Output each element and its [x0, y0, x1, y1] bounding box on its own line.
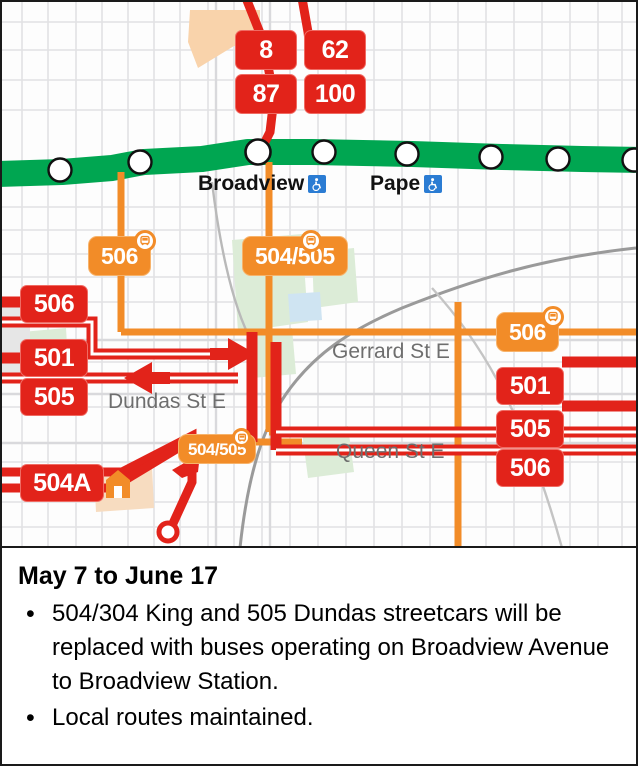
street-label-gerrard: Gerrard St E	[332, 340, 450, 364]
notice-title: May 7 to June 17	[18, 562, 620, 591]
route-badge-8[interactable]: 8	[235, 30, 297, 70]
route-badge-left-501[interactable]: 501	[20, 339, 88, 377]
station-marker-pape	[313, 141, 336, 164]
route-badge-right-506[interactable]: 506	[496, 449, 564, 487]
bus-icon	[232, 428, 251, 447]
station-label-pape: Pape	[370, 172, 442, 196]
station-marker	[480, 146, 503, 169]
route-badge-62[interactable]: 62	[304, 30, 366, 70]
station-label-broadview: Broadview	[198, 172, 326, 196]
route-badge-left-505[interactable]: 505	[20, 378, 88, 416]
notice-bullet-text: 504/304 King and 505 Dundas streetcars w…	[52, 597, 620, 699]
station-marker	[129, 151, 152, 174]
route-badge-504a[interactable]: 504A	[20, 464, 104, 502]
bullet-glyph: •	[18, 701, 52, 735]
water-area	[288, 292, 322, 322]
street-label-dundas: Dundas St E	[108, 390, 226, 414]
station-label-text: Pape	[370, 172, 420, 196]
bus-icon	[542, 306, 564, 328]
route-badge-right-505[interactable]: 505	[496, 410, 564, 448]
notice-bullet-text: Local routes maintained.	[52, 701, 314, 735]
bullet-glyph: •	[18, 597, 52, 631]
accessibility-icon	[424, 175, 442, 193]
bus-icon	[134, 230, 156, 252]
station-marker	[396, 143, 419, 166]
accessibility-icon	[308, 175, 326, 193]
notice-bullet-item: • Local routes maintained.	[18, 701, 620, 735]
route-badge-right-501[interactable]: 501	[496, 367, 564, 405]
bus-icon	[300, 230, 322, 252]
route-badge-87[interactable]: 87	[235, 74, 297, 114]
station-marker	[623, 149, 637, 172]
route-terminus-marker	[159, 523, 177, 541]
station-marker	[49, 159, 72, 182]
service-notice: May 7 to June 17 • 504/304 King and 505 …	[2, 548, 636, 764]
route-badge-100[interactable]: 100	[304, 74, 366, 114]
notice-bullet-item: • 504/304 King and 505 Dundas streetcars…	[18, 597, 620, 699]
station-marker	[547, 148, 570, 171]
street-label-queen: Queen St E	[336, 440, 445, 464]
transit-notice-page: Broadview Pape Gerrard St E Dundas	[0, 0, 638, 766]
station-marker-broadview	[246, 140, 271, 165]
route-map[interactable]: Broadview Pape Gerrard St E Dundas	[2, 2, 636, 548]
station-label-text: Broadview	[198, 172, 304, 196]
bus-badge-504-505-upper[interactable]: 504/505	[242, 236, 348, 276]
route-badge-left-506[interactable]: 506	[20, 285, 88, 323]
